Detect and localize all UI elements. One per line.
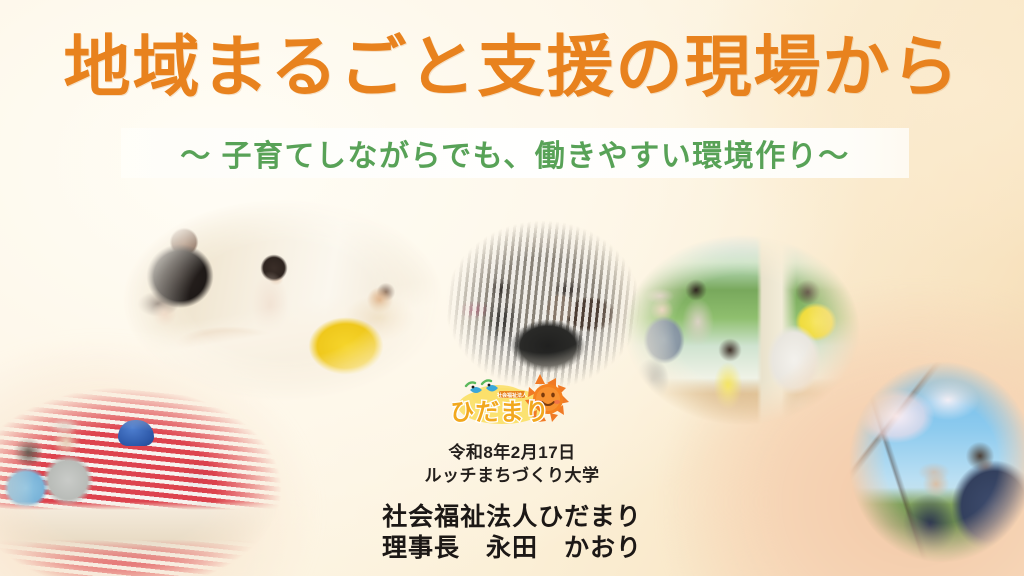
logo-wordmark: ひだまり: [452, 399, 550, 426]
photo-right-image: [618, 230, 866, 430]
logo-tagline: 社会福祉法人: [496, 392, 528, 399]
hidamari-logo: 社会福祉法人 ひだまり: [452, 372, 572, 426]
slide-subtitle: 〜 子育てしながらでも、働きやすい環境作り〜: [180, 131, 850, 175]
photo-right: [618, 230, 866, 430]
presenter-name: 理事長 永田 かおり: [0, 533, 1024, 564]
subtitle-band: 〜 子育てしながらでも、働きやすい環境作り〜: [121, 128, 909, 178]
presenter-block: 社会福祉法人ひだまり 理事長 永田 かおり: [0, 502, 1024, 564]
event-date: 令和8年2月17日: [0, 442, 1024, 465]
photo-left-image: [118, 196, 448, 404]
event-meta: 令和8年2月17日 ルッチまちづくり大学: [0, 442, 1024, 487]
photo-center-image: [440, 216, 646, 394]
photo-center: [440, 216, 646, 394]
presentation-slide: 地域まるごと支援の現場から 〜 子育てしながらでも、働きやすい環境作り〜: [0, 0, 1024, 576]
event-venue: ルッチまちづくり大学: [0, 465, 1024, 488]
slide-title: 地域まるごと支援の現場から: [0, 34, 1024, 101]
presenter-organization: 社会福祉法人ひだまり: [0, 502, 1024, 533]
photo-left: [118, 196, 448, 404]
